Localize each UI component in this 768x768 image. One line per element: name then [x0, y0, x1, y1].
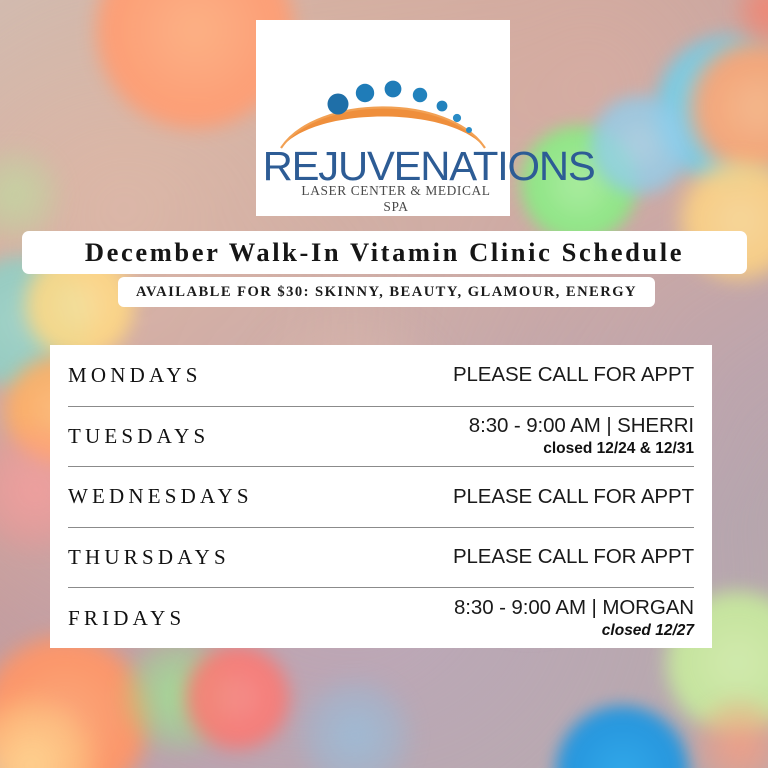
day-label: FRIDAYS	[68, 606, 185, 631]
day-label: TUESDAYS	[68, 424, 209, 449]
schedule-row-thursdays: THURSDAYS PLEASE CALL FOR APPT	[68, 527, 694, 588]
page-subtitle: AVAILABLE FOR $30: SKINNY, BEAUTY, GLAMO…	[136, 284, 637, 301]
schedule-panel: MONDAYS PLEASE CALL FOR APPT TUESDAYS 8:…	[50, 345, 712, 648]
day-label: THURSDAYS	[68, 545, 230, 570]
brand-logo-card: REJUVENATIONS LASER CENTER & MEDICAL SPA	[256, 20, 510, 216]
day-detail: PLEASE CALL FOR APPT	[453, 364, 694, 387]
poster-canvas: REJUVENATIONS LASER CENTER & MEDICAL SPA…	[0, 0, 768, 768]
brand-wordmark: REJUVENATIONS LASER CENTER & MEDICAL SPA	[265, 148, 501, 215]
day-detail-main: PLEASE CALL FOR APPT	[453, 364, 694, 387]
schedule-row-wednesdays: WEDNESDAYS PLEASE CALL FOR APPT	[68, 466, 694, 527]
day-detail: PLEASE CALL FOR APPT	[453, 486, 694, 509]
subtitle-banner: AVAILABLE FOR $30: SKINNY, BEAUTY, GLAMO…	[118, 277, 655, 307]
schedule-row-fridays: FRIDAYS 8:30 - 9:00 AM | MORGAN closed 1…	[68, 587, 694, 648]
schedule-row-tuesdays: TUESDAYS 8:30 - 9:00 AM | SHERRI closed …	[68, 406, 694, 467]
brand-name: REJUVENATIONS	[263, 148, 504, 186]
day-detail-main: 8:30 - 9:00 AM | SHERRI	[469, 415, 694, 438]
day-detail-note: closed 12/24 & 12/31	[543, 440, 694, 457]
schedule-row-mondays: MONDAYS PLEASE CALL FOR APPT	[68, 345, 694, 406]
day-detail: 8:30 - 9:00 AM | SHERRI closed 12/24 & 1…	[469, 415, 694, 457]
day-detail: PLEASE CALL FOR APPT	[453, 546, 694, 569]
title-banner: December Walk-In Vitamin Clinic Schedule	[22, 231, 747, 274]
day-detail: 8:30 - 9:00 AM | MORGAN closed 12/27	[454, 597, 694, 639]
day-detail-main: PLEASE CALL FOR APPT	[453, 486, 694, 509]
day-detail-main: 8:30 - 9:00 AM | MORGAN	[454, 597, 694, 620]
day-detail-note: closed 12/27	[602, 622, 694, 639]
day-label: MONDAYS	[68, 363, 202, 388]
day-label: WEDNESDAYS	[68, 484, 253, 509]
page-title: December Walk-In Vitamin Clinic Schedule	[85, 237, 684, 268]
bokeh-circle-blue-upperright	[590, 95, 690, 195]
bokeh-circle-red-bottom	[185, 645, 290, 750]
day-detail-main: PLEASE CALL FOR APPT	[453, 546, 694, 569]
rejuvenations-arc-dots-icon	[265, 36, 501, 154]
